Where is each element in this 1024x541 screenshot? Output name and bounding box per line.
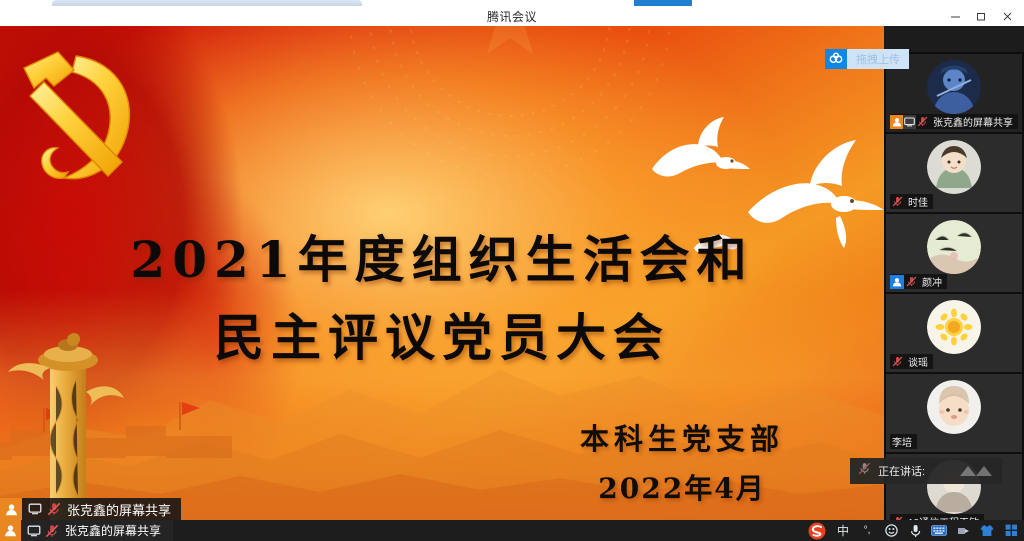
drag-upload-label: 拖拽上传	[847, 49, 909, 69]
person-icon	[890, 275, 904, 289]
screen-share-icon	[903, 115, 916, 129]
participant-name: 时佳	[908, 194, 928, 209]
ime-soft-keyboard-icon[interactable]	[928, 520, 950, 541]
mic-muted-icon	[45, 524, 59, 538]
slide-title-line1: 2021年度组织生活会和	[130, 230, 753, 289]
system-tray: 中 °,	[804, 520, 1022, 541]
screen-share-icon	[27, 525, 41, 537]
participant-label: 李培	[890, 434, 917, 449]
participant-tile[interactable]: 李培	[886, 374, 1022, 452]
slide-subtitle-block: 本科生党支部 2022年4月	[580, 414, 784, 514]
avatar	[927, 60, 981, 114]
slide-date: 2022年4月	[580, 464, 784, 514]
mic-muted-icon	[904, 275, 918, 289]
host-icon	[0, 520, 21, 541]
mic-muted-icon	[47, 502, 61, 516]
meeting-stage: 2021年度组织生活会和 民主评议党员大会 本科生党支部 2022年4月	[0, 26, 1024, 520]
mic-muted-icon	[858, 462, 871, 480]
participant-name: 谈瑶	[908, 354, 928, 369]
ime-voice-icon[interactable]	[904, 520, 926, 541]
slide-subtitle: 本科生党支部	[580, 422, 784, 456]
mic-muted-icon	[890, 355, 904, 369]
minimize-icon[interactable]	[942, 6, 968, 26]
taskbar-active-window[interactable]: 张克鑫的屏幕共享	[0, 520, 173, 541]
maximize-icon[interactable]	[968, 6, 994, 26]
screen-root: 腾讯会议	[0, 0, 1024, 541]
screen-share-icon	[28, 503, 42, 515]
participant-name: 李培	[892, 434, 912, 449]
speaking-tooltip: 正在讲话:	[850, 458, 1002, 484]
participant-name: 颜冲	[922, 274, 942, 289]
ime-chinese-mode[interactable]: 中	[832, 520, 854, 541]
sogou-ime-logo[interactable]	[804, 520, 830, 541]
windows-taskbar: 张克鑫的屏幕共享 中 °,	[0, 520, 1024, 541]
avatar	[927, 300, 981, 354]
participant-label: 张克鑫的屏幕共享	[890, 114, 1018, 129]
participant-tile[interactable]: 颜冲	[886, 214, 1022, 292]
cloud-upload-icon	[825, 49, 847, 69]
sharer-name: 张克鑫的屏幕共享	[67, 500, 171, 519]
screen-share-indicator: 张克鑫的屏幕共享	[0, 498, 181, 520]
slide-title-line2: 民主评议党员大会	[0, 299, 884, 377]
ime-emoji[interactable]	[880, 520, 902, 541]
participant-rail[interactable]: 张克鑫的屏幕共享	[884, 52, 1024, 520]
speaking-label: 正在讲话:	[878, 463, 925, 479]
ime-more-icon[interactable]	[1000, 520, 1022, 541]
host-icon	[0, 498, 22, 520]
slide-title: 2021年度组织生活会和 民主评议党员大会	[0, 221, 884, 377]
avatar	[927, 140, 981, 194]
participant-tile[interactable]: 时佳	[886, 134, 1022, 212]
app-title: 腾讯会议	[0, 8, 1024, 25]
ime-toolbox-icon[interactable]	[952, 520, 974, 541]
window-controls	[942, 6, 1020, 26]
host-icon	[890, 115, 903, 129]
avatar	[927, 220, 981, 274]
drag-upload-chip[interactable]: 拖拽上传	[825, 49, 909, 69]
participant-name: 张克鑫的屏幕共享	[933, 114, 1013, 129]
avatar	[927, 380, 981, 434]
window-title-bar[interactable]: 腾讯会议	[0, 6, 1024, 26]
shared-screen-slide[interactable]: 2021年度组织生活会和 民主评议党员大会 本科生党支部 2022年4月	[0, 26, 884, 520]
participant-label: 时佳	[890, 194, 933, 209]
taskbar-window-title: 张克鑫的屏幕共享	[65, 522, 161, 539]
mic-muted-icon	[890, 195, 904, 209]
participant-tile[interactable]: 谈瑶	[886, 294, 1022, 372]
sound-wave-icon	[958, 464, 994, 478]
close-icon[interactable]	[994, 6, 1020, 26]
mic-muted-icon	[916, 115, 929, 129]
participant-label: 颜冲	[890, 274, 947, 289]
ime-punctuation[interactable]: °,	[856, 520, 878, 541]
participant-label: 谈瑶	[890, 354, 933, 369]
hammer-and-sickle-icon	[8, 38, 158, 198]
ime-skin-icon[interactable]	[976, 520, 998, 541]
